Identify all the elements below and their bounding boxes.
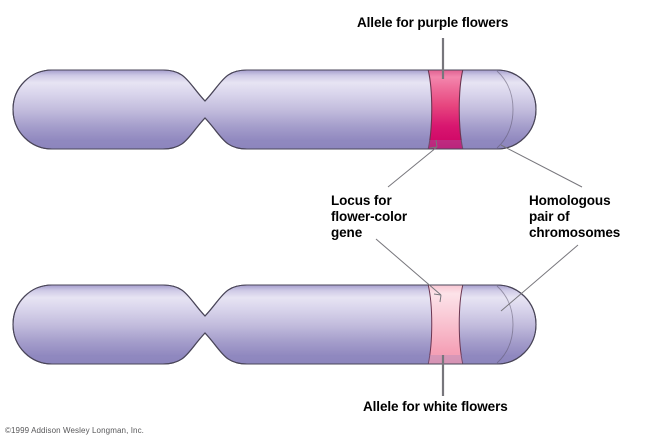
bottom-allele-band-white <box>428 284 463 365</box>
bottom-chromosome <box>13 284 536 365</box>
homologous-leader-to-top <box>501 145 582 187</box>
copyright-credit: ©1999 Addison Wesley Longman, Inc. <box>5 426 144 435</box>
label-homologous-pair-chromosomes: Homologous pair of chromosomes <box>529 193 620 241</box>
label-locus-flower-color-gene: Locus for flower-color gene <box>331 193 407 241</box>
top-chromosome <box>13 69 536 150</box>
homologous-leader-to-bottom <box>501 245 578 311</box>
chromosome-diagram: Allele for purple flowers Allele for whi… <box>0 0 645 445</box>
label-allele-purple-flowers: Allele for purple flowers <box>357 15 508 31</box>
top-allele-band-purple <box>428 69 463 150</box>
locus-leader-to-top-band <box>388 147 437 187</box>
label-allele-white-flowers: Allele for white flowers <box>363 399 508 415</box>
